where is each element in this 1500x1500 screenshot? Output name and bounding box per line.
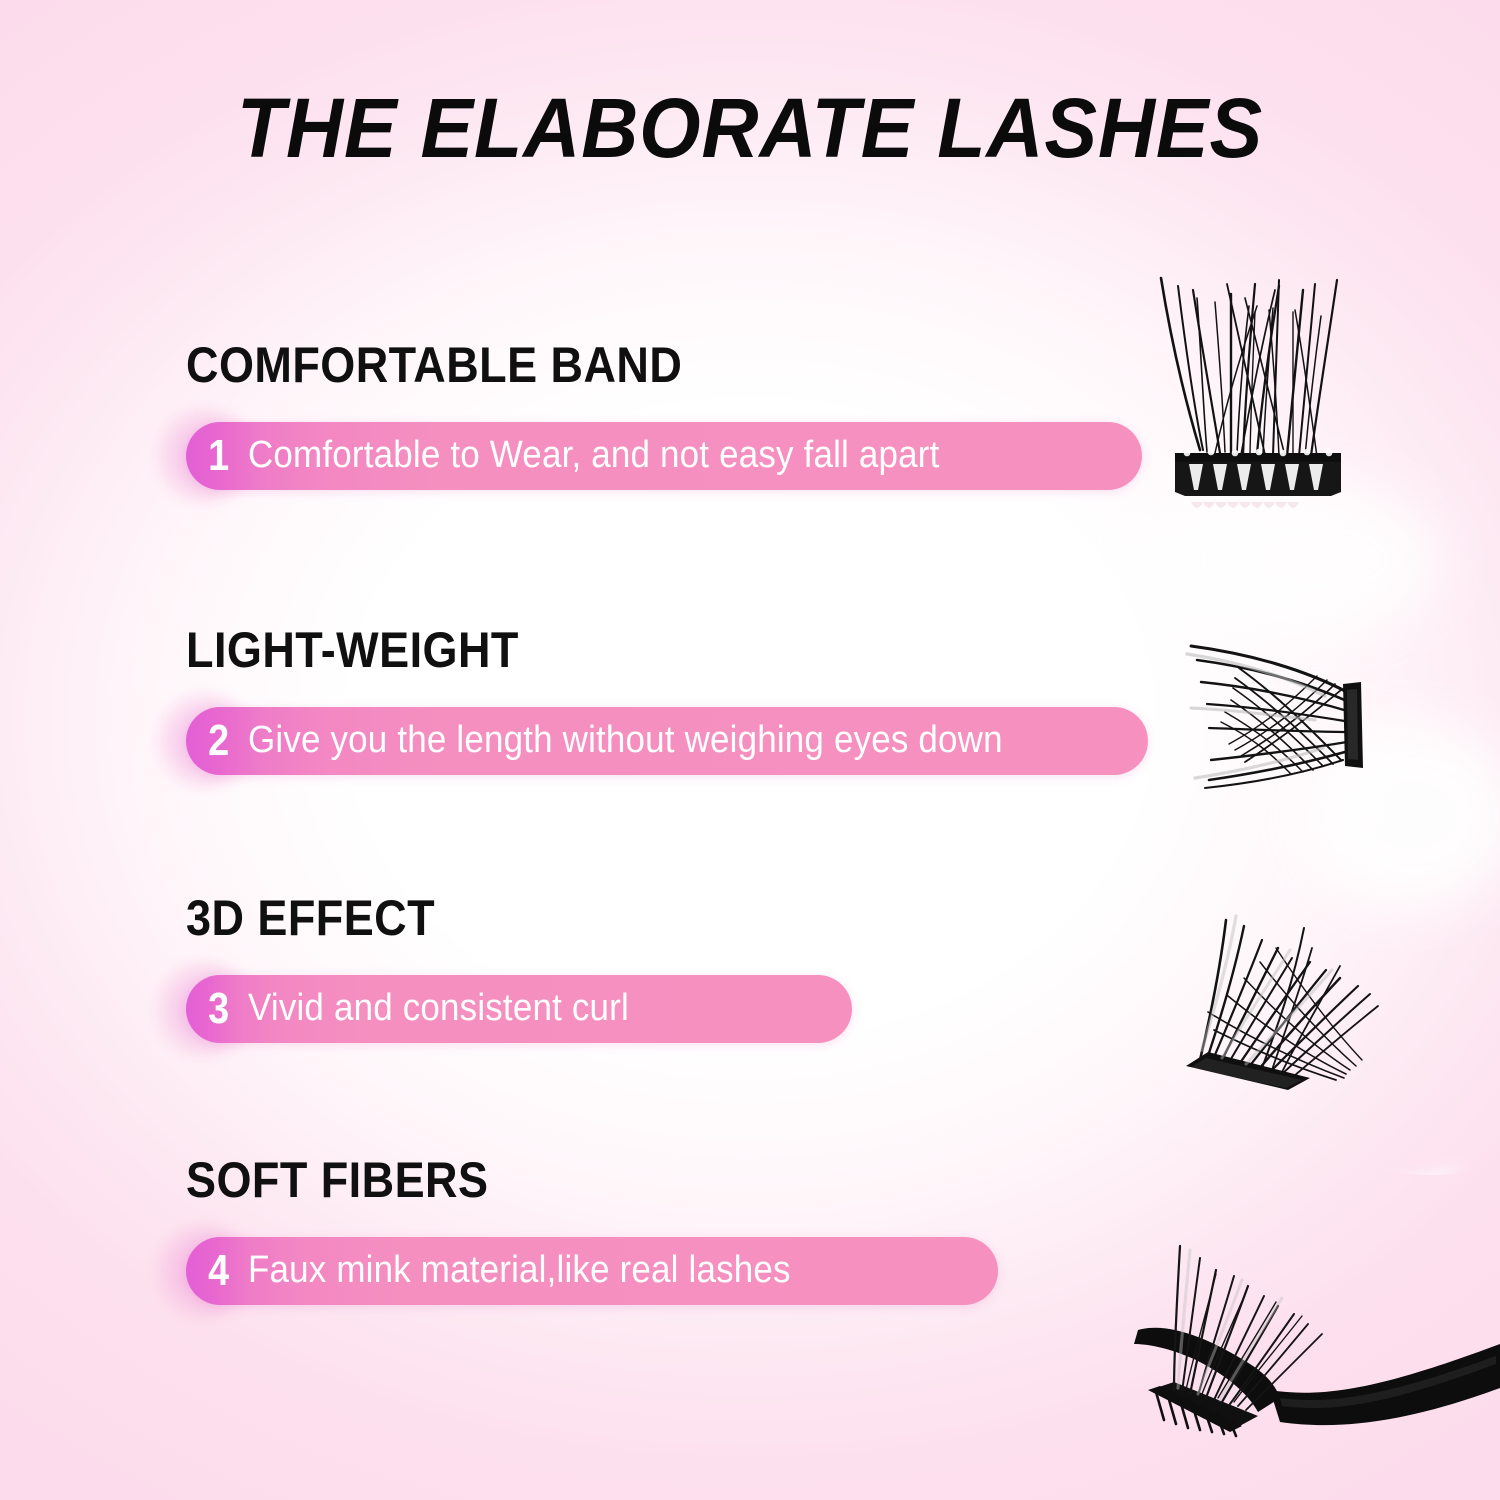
white-glow-decor-1: [1300, 720, 1500, 910]
feature-description-2: Give you the length without weighing eye…: [248, 721, 1003, 761]
feature-pill-wrap-3: 3 Vivid and consistent curl: [186, 975, 463, 1043]
feature-heading-3: 3D EFFECT: [186, 893, 435, 943]
page-title: THE ELABORATE LASHES: [45, 86, 1455, 170]
feature-block-1: COMFORTABLE BAND 1 Comfortable to Wear, …: [186, 340, 737, 490]
lash-strip-side-view-image: [1165, 630, 1425, 810]
feature-pill-wrap-4: 4 Faux mink material,like real lashes: [186, 1237, 522, 1305]
feature-heading-1: COMFORTABLE BAND: [186, 340, 682, 390]
lash-cluster-front-view-image: [1145, 250, 1395, 510]
feature-description-3: Vivid and consistent curl: [248, 989, 629, 1029]
feature-pill-2[interactable]: 2 Give you the length without weighing e…: [186, 707, 1148, 775]
feature-block-3: 3D EFFECT 3 Vivid and consistent curl: [186, 893, 463, 1043]
feature-pill-1[interactable]: 1 Comfortable to Wear, and not easy fall…: [186, 422, 1142, 490]
feature-pill-wrap-1: 1 Comfortable to Wear, and not easy fall…: [186, 422, 737, 490]
white-crescent-decor: [1235, 930, 1500, 1180]
feature-heading-4: SOFT FIBERS: [186, 1155, 488, 1205]
feature-number-2: 2: [190, 719, 243, 763]
lash-on-tweezer-image: [1130, 1240, 1500, 1500]
feature-pill-4[interactable]: 4 Faux mink material,like real lashes: [186, 1237, 998, 1305]
white-glow-decor-2: [1140, 480, 1440, 640]
feature-number-4: 4: [190, 1249, 243, 1293]
feature-number-1: 1: [190, 434, 243, 478]
feature-description-4: Faux mink material,like real lashes: [248, 1251, 791, 1291]
feature-block-2: LIGHT-WEIGHT 2 Give you the length witho…: [186, 625, 556, 775]
pink-crescent-decor-2: [1095, 880, 1415, 1180]
feature-description-1: Comfortable to Wear, and not easy fall a…: [248, 436, 939, 476]
lash-strip-angled-view-image: [1150, 900, 1440, 1100]
feature-block-4: SOFT FIBERS 4 Faux mink material,like re…: [186, 1155, 522, 1305]
feature-number-3: 3: [190, 987, 243, 1031]
feature-pill-3[interactable]: 3 Vivid and consistent curl: [186, 975, 852, 1043]
feature-heading-2: LIGHT-WEIGHT: [186, 625, 519, 675]
feature-pill-wrap-2: 2 Give you the length without weighing e…: [186, 707, 556, 775]
infographic-canvas: THE ELABORATE LASHES COMFORTABLE BAND 1 …: [0, 0, 1500, 1500]
